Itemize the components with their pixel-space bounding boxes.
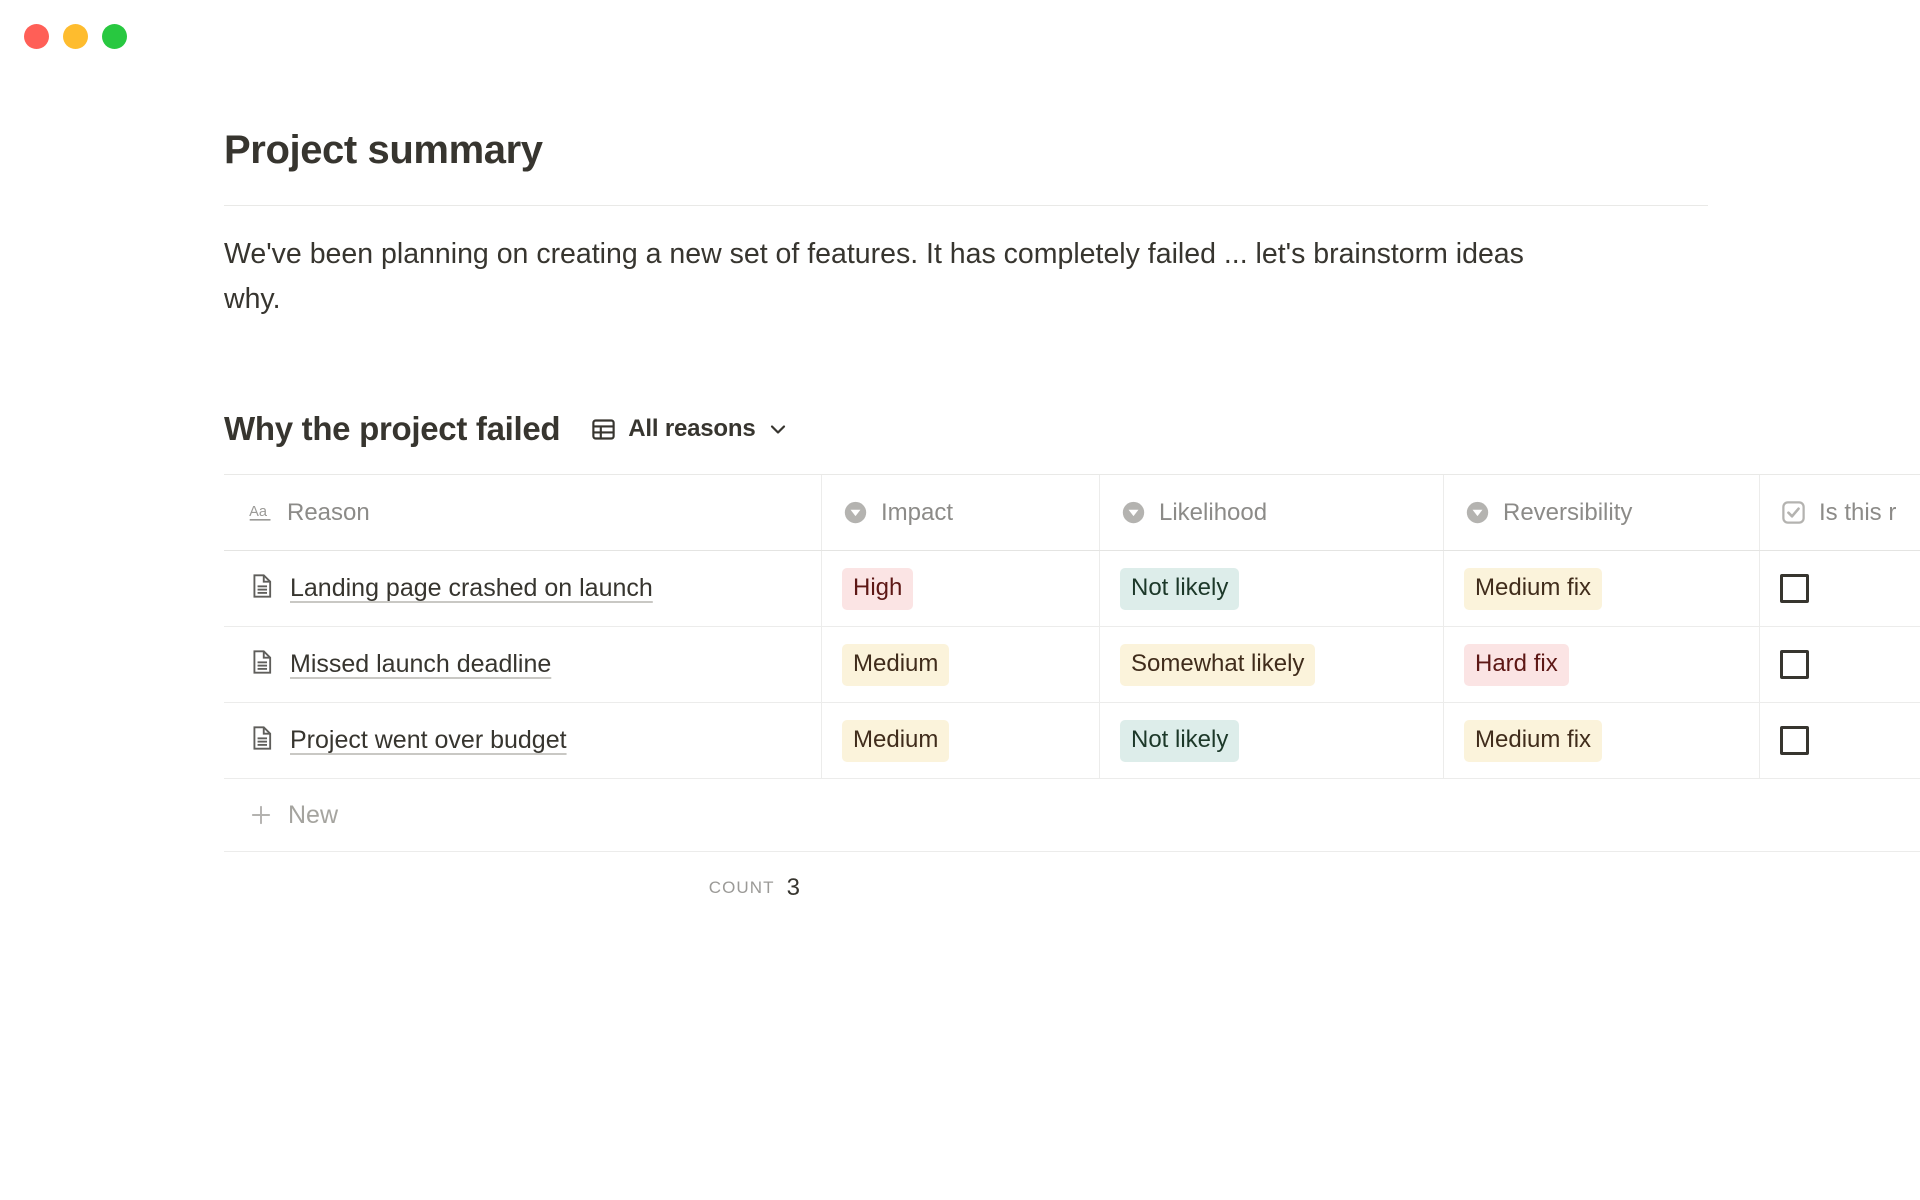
- column-header-resolved[interactable]: Is this r: [1760, 475, 1920, 550]
- minimize-window-button[interactable]: [63, 24, 88, 49]
- page-icon: [248, 648, 276, 681]
- select-icon: [1464, 499, 1491, 526]
- column-header-label: Is this r: [1819, 499, 1896, 527]
- status-badge: Medium: [842, 720, 949, 762]
- status-badge: Medium fix: [1464, 720, 1602, 762]
- cell-reversibility[interactable]: Medium fix: [1444, 551, 1760, 626]
- cell-impact[interactable]: Medium: [822, 703, 1100, 778]
- column-header-label: Reason: [287, 499, 370, 527]
- database-table: Aa Reason: [224, 474, 1920, 924]
- cell-reason[interactable]: Project went over budget: [224, 703, 822, 778]
- page-title: Project summary: [224, 126, 1708, 174]
- column-header-impact[interactable]: Impact: [822, 475, 1100, 550]
- text-aa-icon: Aa: [248, 499, 275, 526]
- page-body-text: We've been planning on creating a new se…: [224, 232, 1554, 322]
- title-divider: [224, 205, 1708, 206]
- cell-reason[interactable]: Landing page crashed on launch: [224, 551, 822, 626]
- add-new-row-button[interactable]: New: [224, 779, 1920, 852]
- cell-resolved[interactable]: [1760, 627, 1920, 702]
- cell-impact[interactable]: Medium: [822, 627, 1100, 702]
- status-badge: High: [842, 568, 913, 610]
- column-header-label: Impact: [881, 499, 953, 527]
- status-badge: Not likely: [1120, 568, 1239, 610]
- cell-likelihood[interactable]: Not likely: [1100, 551, 1444, 626]
- table-header-row: Aa Reason: [224, 475, 1920, 551]
- table-icon: [590, 416, 617, 443]
- column-header-likelihood[interactable]: Likelihood: [1100, 475, 1444, 550]
- row-title-link[interactable]: Missed launch deadline: [290, 650, 551, 679]
- page-icon: [248, 724, 276, 757]
- column-header-label: Likelihood: [1159, 499, 1267, 527]
- status-badge: Hard fix: [1464, 644, 1569, 686]
- cell-likelihood[interactable]: Somewhat likely: [1100, 627, 1444, 702]
- cell-likelihood[interactable]: Not likely: [1100, 703, 1444, 778]
- svg-text:Aa: Aa: [249, 504, 268, 520]
- cell-resolved[interactable]: [1760, 703, 1920, 778]
- resolved-checkbox[interactable]: [1780, 574, 1809, 603]
- cell-reason[interactable]: Missed launch deadline: [224, 627, 822, 702]
- table-row[interactable]: Missed launch deadline Medium Somewhat l…: [224, 627, 1920, 703]
- chevron-down-icon[interactable]: [766, 417, 790, 441]
- add-new-row-label: New: [288, 801, 338, 830]
- row-title-link[interactable]: Landing page crashed on launch: [290, 574, 653, 603]
- maximize-window-button[interactable]: [102, 24, 127, 49]
- status-badge: Medium fix: [1464, 568, 1602, 610]
- cell-reversibility[interactable]: Hard fix: [1444, 627, 1760, 702]
- page-container: Project summary We've been planning on c…: [0, 72, 1920, 924]
- count-value: 3: [787, 874, 800, 902]
- database-view-label: All reasons: [628, 415, 755, 443]
- status-badge: Medium: [842, 644, 949, 686]
- column-header-reversibility[interactable]: Reversibility: [1444, 475, 1760, 550]
- status-badge: Not likely: [1120, 720, 1239, 762]
- column-header-label: Reversibility: [1503, 499, 1632, 527]
- select-icon: [1120, 499, 1147, 526]
- resolved-checkbox[interactable]: [1780, 650, 1809, 679]
- resolved-checkbox[interactable]: [1780, 726, 1809, 755]
- row-title-link[interactable]: Project went over budget: [290, 726, 567, 755]
- page-icon: [248, 572, 276, 605]
- close-window-button[interactable]: [24, 24, 49, 49]
- checkbox-icon: [1780, 499, 1807, 526]
- column-header-reason[interactable]: Aa Reason: [224, 475, 822, 550]
- database-footer[interactable]: Count 3: [224, 852, 822, 924]
- database-header: Why the project failed All reasons: [224, 410, 1708, 448]
- content-column: Project summary We've been planning on c…: [224, 126, 1708, 448]
- database-view-selector[interactable]: All reasons: [586, 413, 794, 445]
- table-row[interactable]: Project went over budget Medium Not like…: [224, 703, 1920, 779]
- database-title: Why the project failed: [224, 410, 560, 448]
- status-badge: Somewhat likely: [1120, 644, 1315, 686]
- select-icon: [842, 499, 869, 526]
- plus-icon: [248, 802, 274, 828]
- cell-impact[interactable]: High: [822, 551, 1100, 626]
- cell-resolved[interactable]: [1760, 551, 1920, 626]
- count-label: Count: [709, 878, 775, 898]
- window-titlebar: [0, 0, 1920, 72]
- cell-reversibility[interactable]: Medium fix: [1444, 703, 1760, 778]
- table-row[interactable]: Landing page crashed on launch High Not …: [224, 551, 1920, 627]
